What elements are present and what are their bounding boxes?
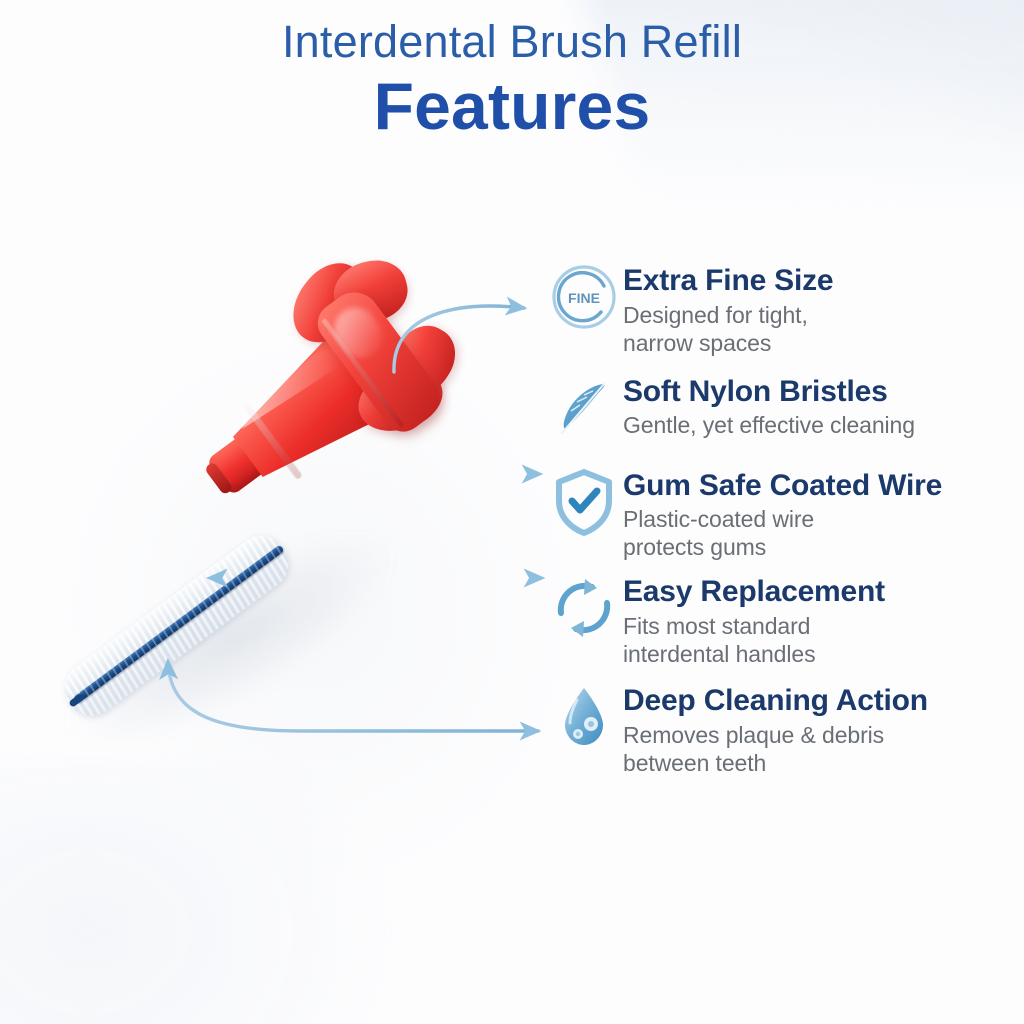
background-wash-bottom-left bbox=[0, 764, 400, 1024]
feature-desc-line1: Plastic-coated wire bbox=[623, 505, 942, 533]
feature-desc-line1: Designed for tight, bbox=[623, 301, 833, 329]
feature-title: Deep Cleaning Action bbox=[623, 684, 928, 718]
infographic-canvas: Interdental Brush Refill Features bbox=[0, 0, 1024, 1024]
feature-item-deep-cleaning-action[interactable]: Deep Cleaning Action Removes plaque & de… bbox=[545, 678, 1024, 777]
page-title-block: Interdental Brush Refill Features bbox=[0, 16, 1024, 142]
page-title-line1: Interdental Brush Refill bbox=[0, 16, 1024, 68]
feature-item-soft-nylon-bristles[interactable]: Soft Nylon Bristles Gentle, yet effectiv… bbox=[545, 369, 1024, 447]
product-image-interdental-brush bbox=[0, 330, 540, 760]
feature-text-block: Soft Nylon Bristles Gentle, yet effectiv… bbox=[623, 369, 915, 440]
fine-ring-icon: FINE bbox=[545, 258, 623, 336]
fine-icon-label: FINE bbox=[568, 290, 600, 306]
feature-desc-line2: narrow spaces bbox=[623, 329, 833, 357]
feature-title: Gum Safe Coated Wire bbox=[623, 469, 942, 503]
feature-item-easy-replacement[interactable]: Easy Replacement Fits most standard inte… bbox=[545, 569, 1024, 668]
feature-title: Easy Replacement bbox=[623, 575, 885, 609]
feature-title: Extra Fine Size bbox=[623, 264, 833, 298]
product-drop-shadow bbox=[35, 493, 424, 787]
feature-title: Soft Nylon Bristles bbox=[623, 375, 915, 409]
feature-desc-line2: protects gums bbox=[623, 533, 942, 561]
water-drop-icon bbox=[545, 678, 623, 756]
page-title-line2: Features bbox=[0, 70, 1024, 143]
recycle-arrows-icon bbox=[545, 569, 623, 647]
feather-icon bbox=[545, 369, 623, 447]
red-plastic-handle bbox=[149, 229, 477, 544]
feature-item-gum-safe-coated-wire[interactable]: Gum Safe Coated Wire Plastic-coated wire… bbox=[545, 463, 1024, 562]
feature-text-block: Easy Replacement Fits most standard inte… bbox=[623, 569, 885, 668]
feature-desc-line2: between teeth bbox=[623, 749, 928, 777]
feature-text-block: Deep Cleaning Action Removes plaque & de… bbox=[623, 678, 928, 777]
feature-desc-line1: Removes plaque & debris bbox=[623, 721, 928, 749]
feature-desc-line1: Gentle, yet effective cleaning bbox=[623, 411, 915, 439]
feature-desc-line2: interdental handles bbox=[623, 640, 885, 668]
shield-check-icon bbox=[545, 463, 623, 541]
feature-list: FINE Extra Fine Size Designed for tight,… bbox=[545, 258, 1024, 791]
feature-text-block: Extra Fine Size Designed for tight, narr… bbox=[623, 258, 833, 357]
feature-desc-line1: Fits most standard bbox=[623, 612, 885, 640]
feature-text-block: Gum Safe Coated Wire Plastic-coated wire… bbox=[623, 463, 942, 562]
feature-item-extra-fine-size[interactable]: FINE Extra Fine Size Designed for tight,… bbox=[545, 258, 1024, 357]
